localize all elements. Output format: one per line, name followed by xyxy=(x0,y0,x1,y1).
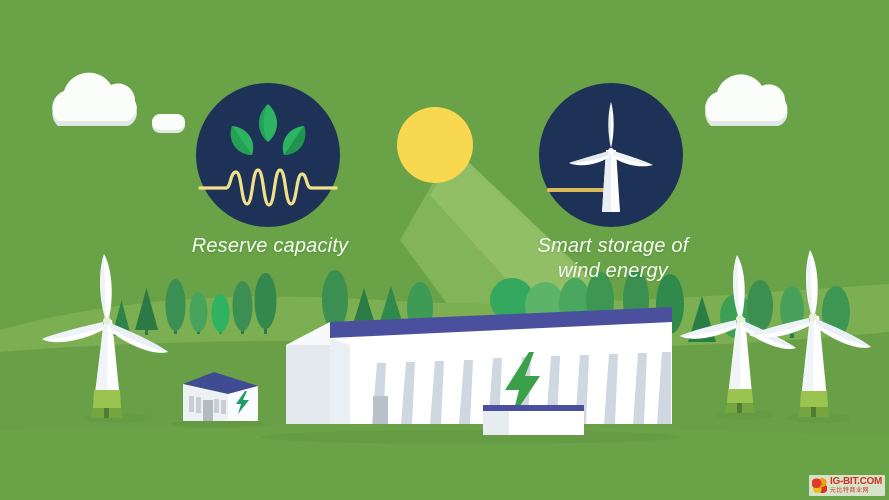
wind-turbine-right-front[interactable] xyxy=(749,250,871,423)
turbine-base xyxy=(800,391,828,407)
turbine-hub xyxy=(809,313,817,321)
site-watermark: IG-BIT.COM 元比特商业网 xyxy=(809,475,885,496)
turbine-door xyxy=(811,407,816,417)
watermark-domain: IG-BIT.COM xyxy=(830,477,882,487)
wind-turbine-left[interactable] xyxy=(42,254,168,423)
watermark-chinese: 元比特商业网 xyxy=(830,488,882,494)
turbine-group xyxy=(0,0,889,500)
badge-label-reserve-capacity: Reserve capacity xyxy=(170,234,370,259)
watermark-text: IG-BIT.COM 元比特商业网 xyxy=(830,477,882,494)
turbine-hub xyxy=(103,317,111,325)
turbine-door xyxy=(104,408,109,418)
badge-label-smart-storage: Smart storage of wind energy xyxy=(513,234,713,284)
illustration-canvas: Reserve capacity Smart storage of wind e… xyxy=(0,0,889,500)
turbine-door xyxy=(737,403,742,413)
turbine-hub xyxy=(736,315,744,323)
flower-logo-icon xyxy=(812,478,827,493)
turbine-base xyxy=(93,390,121,408)
turbine-base xyxy=(727,389,753,403)
